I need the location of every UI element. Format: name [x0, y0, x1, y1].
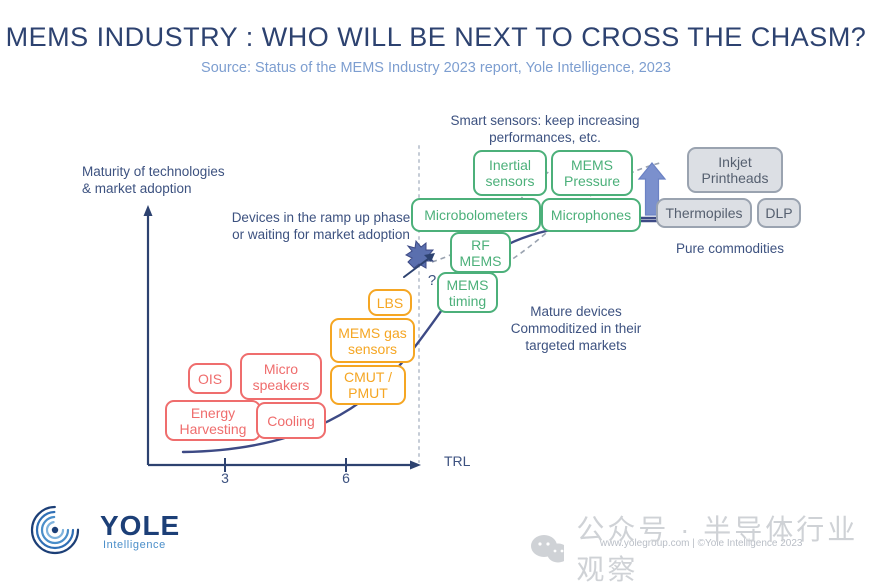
tech-box-ois[interactable]: OIS [188, 363, 232, 394]
tech-box-lbs[interactable]: LBS [368, 289, 412, 316]
annotation-ramp-up: Devices in the ramp up phase or waiting … [226, 209, 416, 243]
tech-box-cooling[interactable]: Cooling [256, 402, 326, 439]
tech-box-rf-mems[interactable]: RF MEMS [450, 232, 511, 273]
x-tick-label-6: 6 [336, 470, 356, 486]
y-axis-label: Maturity of technologies & market adopti… [82, 163, 232, 197]
yole-logo: YOLE Intelligence [22, 502, 212, 558]
wechat-watermark: 公众号 · 半导体行业观察 [530, 508, 872, 588]
yole-wordmark: YOLE [100, 510, 180, 542]
tech-box-inertial-sensors[interactable]: Inertial sensors [473, 150, 547, 196]
annotation-smart-sensors: Smart sensors: keep increasing performan… [435, 112, 655, 146]
tech-box-thermopiles[interactable]: Thermopiles [656, 198, 752, 228]
slide-canvas: MEMS INDUSTRY : WHO WILL BE NEXT TO CROS… [0, 0, 872, 564]
tech-box-inkjet-printheads[interactable]: Inkjet Printheads [687, 147, 783, 193]
tech-box-micro-speakers[interactable]: Micro speakers [240, 353, 322, 400]
tech-box-mems-pressure[interactable]: MEMS Pressure [551, 150, 633, 196]
y-axis-arrowhead [144, 205, 153, 216]
tech-box-mems-gas-sensors[interactable]: MEMS gas sensors [330, 318, 415, 363]
tech-box-cmut-pmut[interactable]: CMUT / PMUT [330, 365, 406, 405]
tech-box-energy-harvesting[interactable]: Energy Harvesting [165, 400, 261, 441]
x-tick-label-3: 3 [215, 470, 235, 486]
annotation-pure-commodities: Pure commodities [650, 240, 810, 257]
watermark-text: 公众号 · 半导体行业观察 [576, 508, 872, 588]
tech-box-dlp[interactable]: DLP [757, 198, 801, 228]
tech-box-microbolometers[interactable]: Microbolometers [411, 198, 541, 232]
yole-tagline: Intelligence [103, 539, 166, 551]
tech-box-microphones[interactable]: Microphones [541, 198, 641, 232]
yole-spiral-icon [22, 502, 88, 558]
x-axis-label: TRL [444, 453, 470, 469]
annotation-mature-devices: Mature devices Commoditized in their tar… [486, 303, 666, 354]
tech-box-mems-timing[interactable]: MEMS timing [437, 272, 498, 313]
wechat-icon [530, 533, 564, 563]
